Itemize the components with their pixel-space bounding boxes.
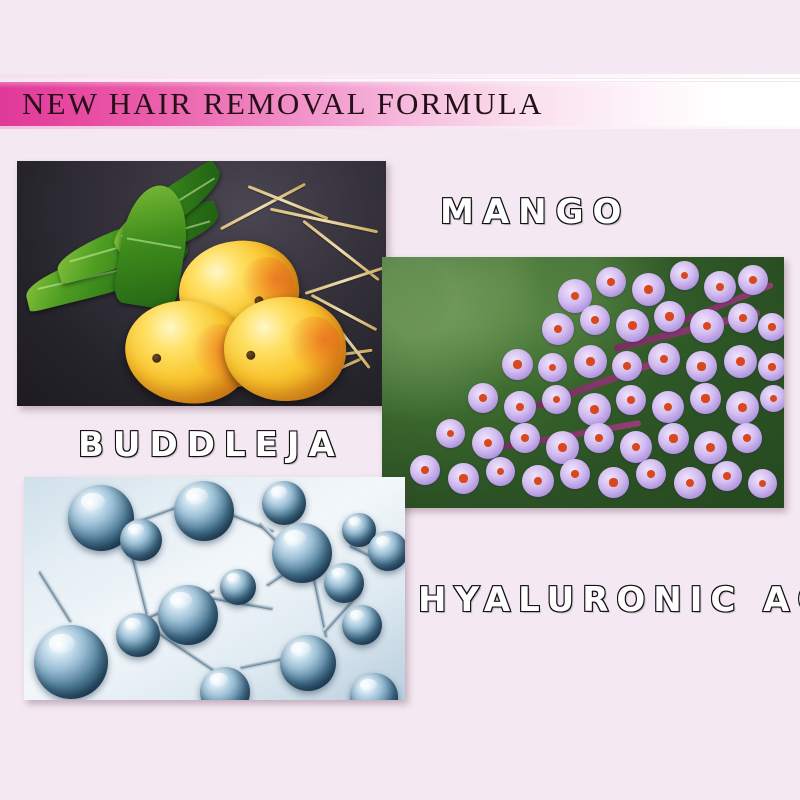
buddleja-floret: [472, 427, 504, 459]
buddleja-floret: [612, 351, 642, 381]
mango-stem: [152, 353, 162, 363]
product-banner-graphic: NEW HAIR REMOVAL FORMULA: [0, 0, 800, 800]
buddleja-floret: [648, 343, 680, 375]
buddleja-floret: [636, 459, 666, 489]
buddleja-floret: [620, 431, 652, 463]
molecule-atom: [174, 481, 234, 541]
mango-photo: [17, 161, 386, 406]
header-banner: NEW HAIR REMOVAL FORMULA: [0, 74, 800, 134]
label-buddleja: BUDDLEJA: [78, 425, 344, 465]
buddleja-floret: [578, 393, 611, 426]
mango-photo-content: [17, 161, 386, 406]
buddleja-floret: [502, 349, 533, 380]
buddleja-floret: [738, 265, 768, 295]
buddleja-floret: [598, 467, 629, 498]
buddleja-floret: [486, 457, 515, 486]
buddleja-floret: [690, 383, 721, 414]
buddleja-floret: [728, 303, 758, 333]
buddleja-floret: [560, 459, 590, 489]
molecule-atom: [158, 585, 218, 645]
buddleja-floret: [758, 313, 784, 341]
buddleja-floret: [652, 391, 684, 423]
buddleja-floret: [584, 423, 614, 453]
molecule-atom: [120, 519, 162, 561]
molecule-atom: [272, 523, 332, 583]
buddleja-floret: [654, 301, 685, 332]
buddleja-floret: [468, 383, 498, 413]
buddleja-floret: [690, 309, 724, 343]
label-hyaluronic-acid: HYALURONIC ACID: [418, 580, 800, 620]
buddleja-photo-content: [382, 257, 784, 508]
banner-bottom-stripe: [0, 126, 800, 129]
molecule-atom: [368, 531, 405, 571]
buddleja-floret: [510, 423, 540, 453]
buddleja-floret: [410, 455, 440, 485]
buddleja-floret: [574, 345, 607, 378]
buddleja-floret: [448, 463, 479, 494]
molecule-atom: [220, 569, 256, 605]
buddleja-floret: [616, 309, 649, 342]
molecule-atom: [34, 625, 108, 699]
buddleja-floret: [704, 271, 736, 303]
buddleja-floret: [580, 305, 610, 335]
banner-title: NEW HAIR REMOVAL FORMULA: [22, 82, 544, 126]
buddleja-floret: [542, 313, 574, 345]
buddleja-floret: [538, 353, 567, 382]
buddleja-floret: [726, 391, 759, 424]
buddleja-floret: [748, 469, 777, 498]
molecule-atom: [342, 605, 382, 645]
buddleja-floret: [732, 423, 762, 453]
banner-thin-stripe: [0, 79, 800, 81]
buddleja-floret: [658, 423, 689, 454]
hyaluronic-acid-photo: [24, 477, 405, 700]
buddleja-floret: [632, 273, 665, 306]
molecule-atom: [280, 635, 336, 691]
banner-top-stripe: [0, 74, 800, 78]
mango-stem: [246, 351, 255, 360]
molecule-atom: [262, 481, 306, 525]
buddleja-floret: [616, 385, 646, 415]
buddleja-floret: [504, 391, 536, 423]
molecule-atom: [116, 613, 160, 657]
buddleja-photo: [382, 257, 784, 508]
buddleja-floret: [694, 431, 727, 464]
buddleja-floret: [758, 353, 784, 381]
buddleja-floret: [522, 465, 554, 497]
label-mango: MANGO: [440, 192, 630, 232]
buddleja-floret: [436, 419, 465, 448]
buddleja-floret: [760, 385, 784, 412]
molecule-photo-content: [24, 477, 405, 700]
buddleja-floret: [712, 461, 742, 491]
buddleja-floret: [674, 467, 706, 499]
buddleja-floret: [686, 351, 717, 382]
molecule-atom: [324, 563, 364, 603]
buddleja-floret: [670, 261, 699, 290]
buddleja-floret: [724, 345, 757, 378]
buddleja-floret: [596, 267, 626, 297]
buddleja-floret: [542, 385, 571, 414]
